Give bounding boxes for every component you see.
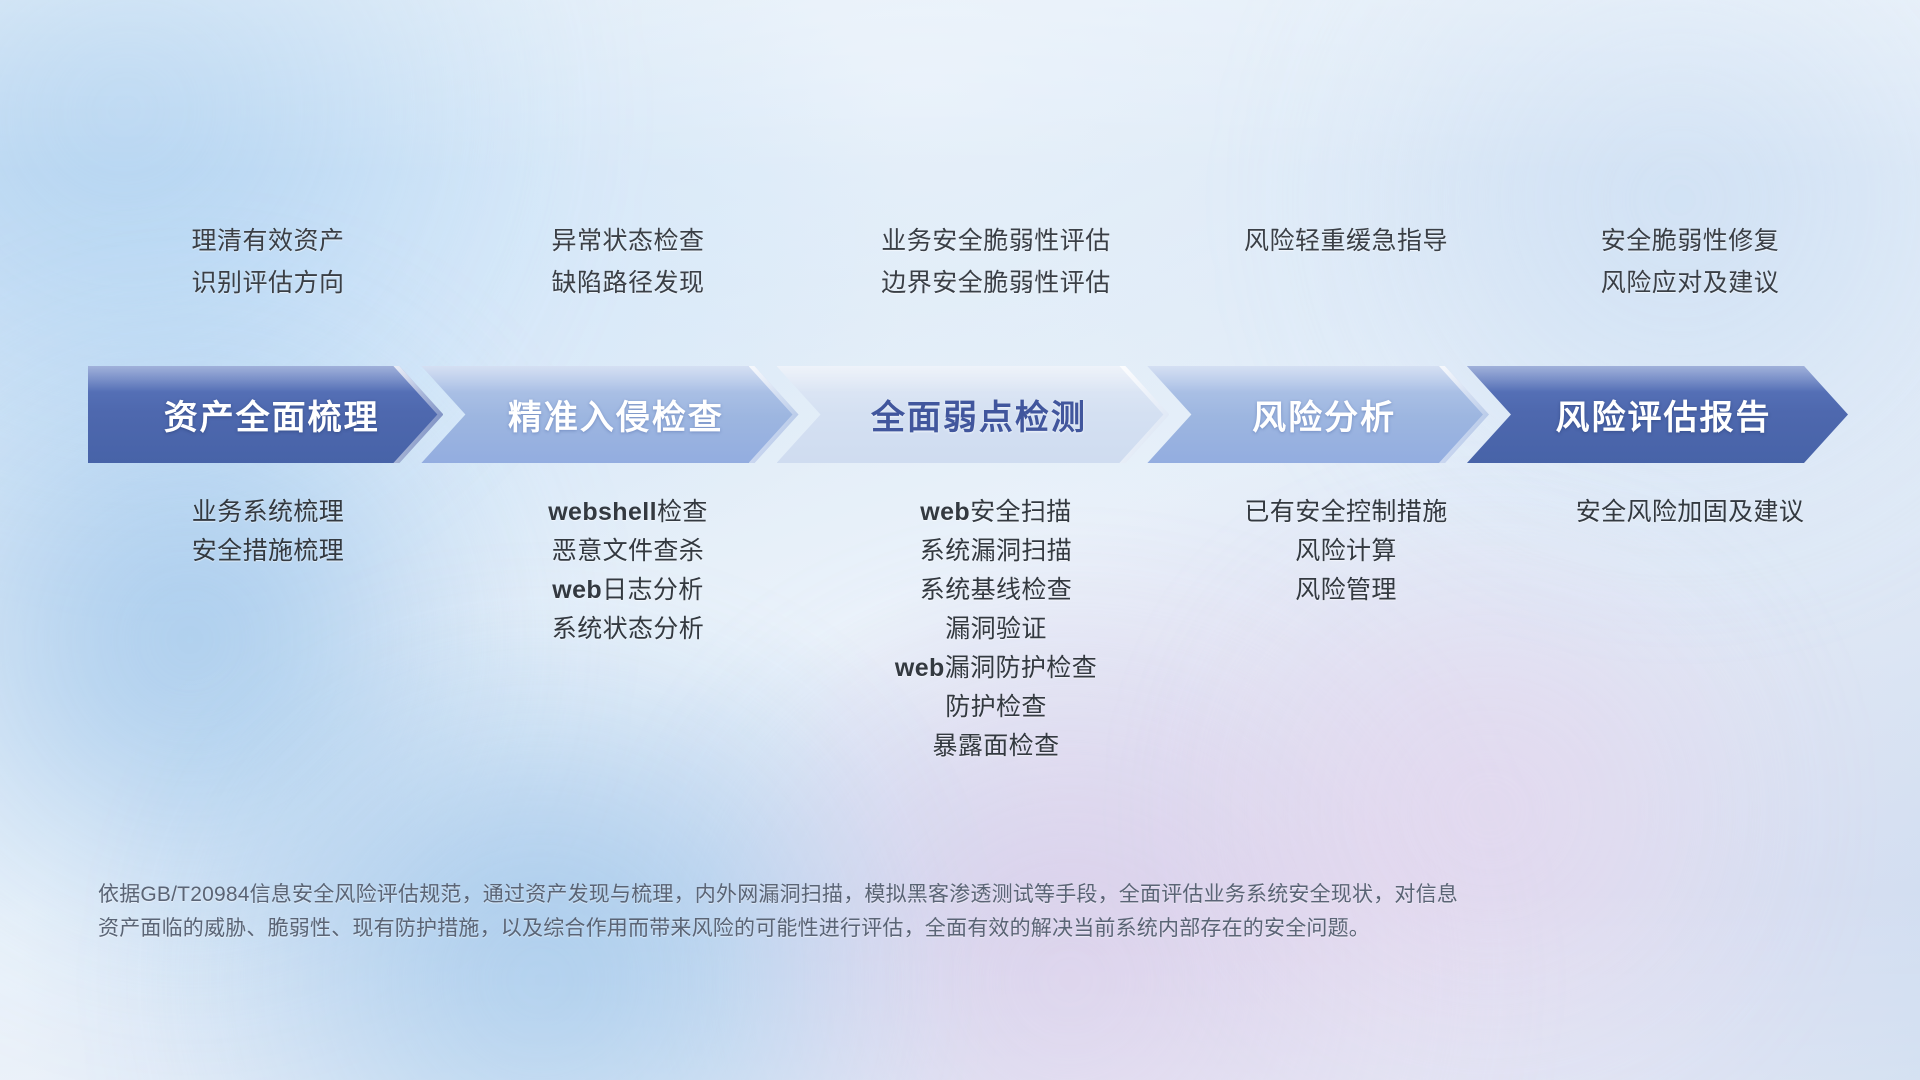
top-annotation: 缺陷路径发现: [551, 270, 704, 298]
detail-item: 防护检查: [945, 693, 1047, 721]
process-step-label: 风险评估报告: [1555, 390, 1771, 439]
detail-item: 暴露面检查: [932, 732, 1059, 760]
process-step-label: 风险分析: [1252, 390, 1396, 439]
process-step-2[interactable]: 精准入侵检查: [421, 366, 798, 463]
detail-item: webshell检查: [548, 498, 708, 526]
process-step-3[interactable]: 全面弱点检测: [777, 366, 1170, 463]
chevron-gloss: [1467, 366, 1848, 392]
detail-list-1: 业务系统梳理安全措施梳理: [88, 498, 448, 565]
detail-item: 安全措施梳理: [192, 537, 344, 565]
chevron-gloss: [88, 366, 443, 392]
detail-item: 业务系统梳理: [192, 498, 344, 526]
top-annotation-group-3: 业务安全脆弱性评估边界安全脆弱性评估: [808, 228, 1184, 338]
top-annotation: 安全脆弱性修复: [1601, 228, 1780, 256]
process-step-label: 资产全面梳理: [164, 390, 380, 439]
detail-list-3: web安全扫描系统漏洞扫描系统基线检查漏洞验证web漏洞防护检查防护检查暴露面检…: [808, 498, 1184, 760]
detail-item: 漏洞验证: [945, 615, 1047, 643]
detail-item: 已有安全控制措施: [1244, 498, 1447, 526]
detail-item: 系统状态分析: [552, 615, 704, 643]
process-step-1[interactable]: 资产全面梳理: [88, 366, 443, 463]
detail-item: 风险管理: [1295, 576, 1397, 604]
top-annotation: 理清有效资产: [191, 228, 344, 256]
footer-line-1: 依据GB/T20984信息安全风险评估规范，通过资产发现与梳理，内外网漏洞扫描，…: [98, 878, 1618, 912]
top-annotation-group-1: 理清有效资产识别评估方向: [88, 228, 448, 338]
detail-item: web漏洞防护检查: [895, 654, 1097, 682]
footer-description: 依据GB/T20984信息安全风险评估规范，通过资产发现与梳理，内外网漏洞扫描，…: [98, 878, 1618, 946]
detail-list-5: 安全风险加固及建议: [1508, 498, 1872, 526]
top-annotation: 边界安全脆弱性评估: [881, 270, 1111, 298]
top-annotation: 异常状态检查: [551, 228, 704, 256]
footer-line-2: 资产面临的威胁、脆弱性、现有防护措施，以及综合作用而带来风险的可能性进行评估，全…: [98, 912, 1618, 946]
process-step-label: 全面弱点检测: [871, 390, 1087, 439]
detail-item: web日志分析: [552, 576, 703, 604]
top-annotation: 风险应对及建议: [1601, 270, 1780, 298]
detail-item: 系统基线检查: [920, 576, 1072, 604]
top-annotation: 业务安全脆弱性评估: [881, 228, 1111, 256]
chevron-gloss: [777, 366, 1170, 392]
top-annotation-group-2: 异常状态检查缺陷路径发现: [448, 228, 808, 338]
top-annotation-group-5: 安全脆弱性修复风险应对及建议: [1508, 228, 1872, 338]
chevron-gloss: [421, 366, 798, 392]
bottom-details-row: 业务系统梳理安全措施梳理webshell检查恶意文件查杀web日志分析系统状态分…: [0, 498, 1920, 728]
top-annotation: 识别评估方向: [191, 270, 344, 298]
top-annotation: 风险轻重缓急指导: [1244, 228, 1448, 256]
process-chevron-banner: 资产全面梳理精准入侵检查全面弱点检测风险分析风险评估报告: [88, 366, 1848, 463]
detail-item: 风险计算: [1295, 537, 1397, 565]
top-annotation-group-4: 风险轻重缓急指导: [1184, 228, 1508, 338]
detail-item: 系统漏洞扫描: [920, 537, 1072, 565]
chevron-gloss: [1147, 366, 1489, 392]
detail-item: 安全风险加固及建议: [1576, 498, 1805, 526]
detail-list-2: webshell检查恶意文件查杀web日志分析系统状态分析: [448, 498, 808, 643]
process-diagram: 理清有效资产识别评估方向异常状态检查缺陷路径发现业务安全脆弱性评估边界安全脆弱性…: [0, 0, 1920, 1080]
detail-list-4: 已有安全控制措施风险计算风险管理: [1184, 498, 1508, 604]
detail-item: web安全扫描: [920, 498, 1071, 526]
top-annotations-row: 理清有效资产识别评估方向异常状态检查缺陷路径发现业务安全脆弱性评估边界安全脆弱性…: [0, 228, 1920, 338]
detail-item: 恶意文件查杀: [552, 537, 704, 565]
process-step-4[interactable]: 风险分析: [1147, 366, 1489, 463]
process-step-5[interactable]: 风险评估报告: [1467, 366, 1848, 463]
process-step-label: 精准入侵检查: [508, 390, 724, 439]
